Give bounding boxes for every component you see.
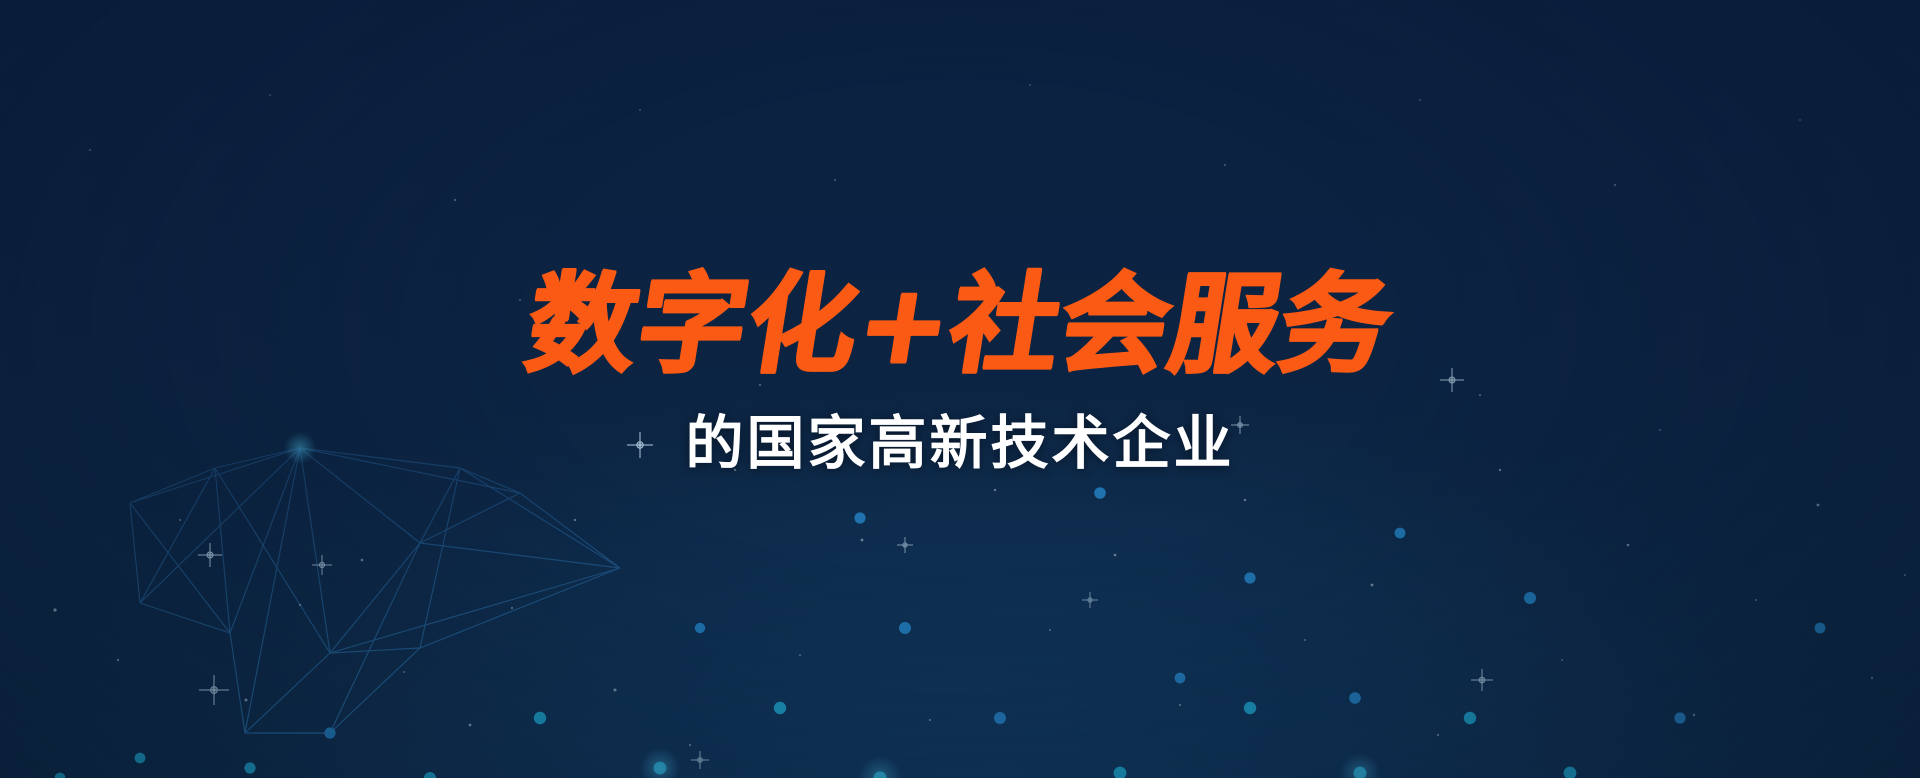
network-constellation-graphic xyxy=(0,278,1920,778)
hero-banner: 数字化+社会服务 的国家高新技术企业 xyxy=(0,0,1920,778)
